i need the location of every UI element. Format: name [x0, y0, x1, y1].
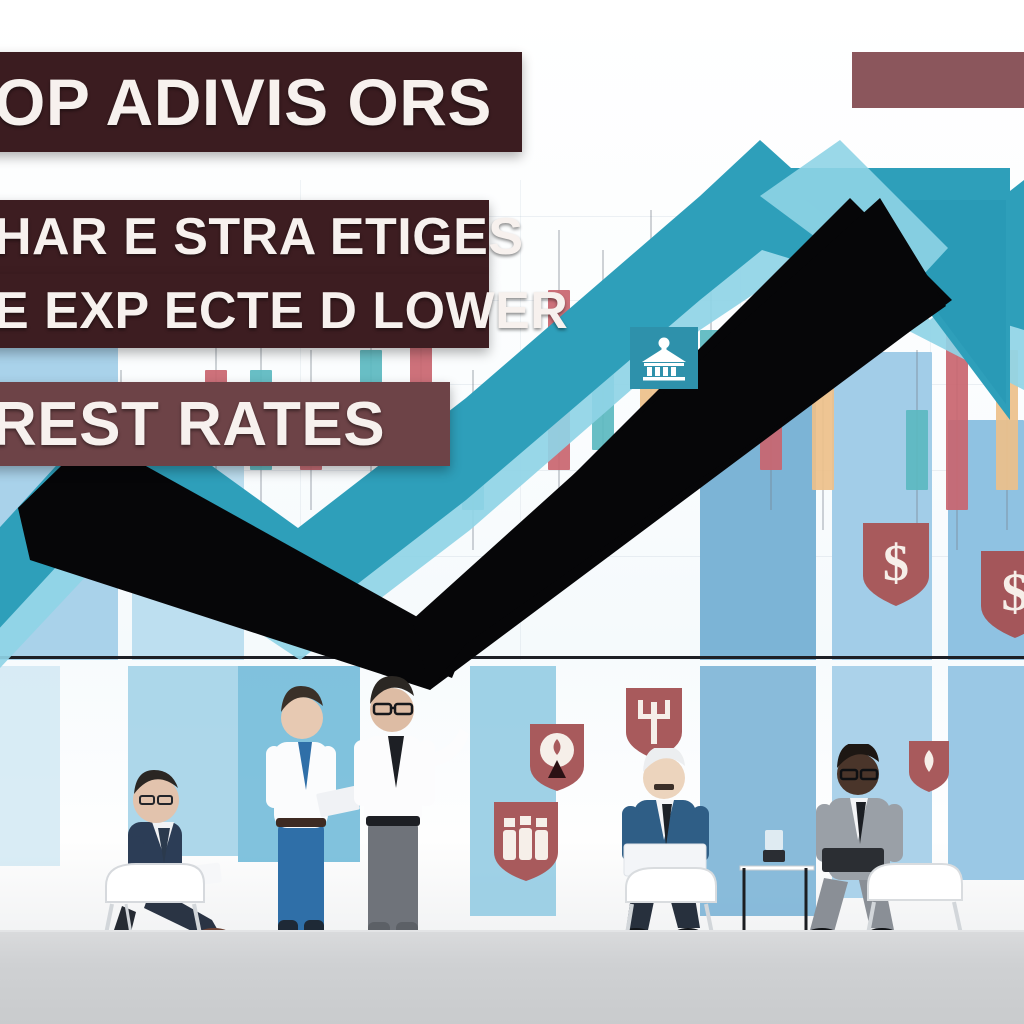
headline-text-1: OP ADIVIS ORS: [0, 64, 492, 140]
headline-band-1: OP ADIVIS ORS: [0, 52, 522, 152]
shield-family-icon: [490, 798, 562, 884]
bank-building-icon: [630, 327, 698, 389]
svg-text:$: $: [883, 535, 909, 592]
svg-text:$: $: [1002, 562, 1024, 622]
shield-umbrella-icon: [526, 720, 588, 794]
headline-text-2: HAR E STRA ETIGES: [0, 207, 524, 267]
poster-canvas: $ $: [0, 0, 1024, 1024]
headline-band-4: REST RATES: [0, 382, 450, 466]
coffee-cup-icon: [756, 826, 792, 866]
shield-dollar-icon: $: [858, 518, 934, 610]
floor: [0, 932, 1024, 1024]
headline-band-3: E EXP ECTE D LOWER: [0, 274, 489, 348]
shield-dollar-icon: $: [976, 546, 1024, 642]
headline-text-4: REST RATES: [0, 389, 385, 460]
headline-text-3: E EXP ECTE D LOWER: [0, 281, 568, 341]
headline-band-2: HAR E STRA ETIGES: [0, 200, 489, 274]
